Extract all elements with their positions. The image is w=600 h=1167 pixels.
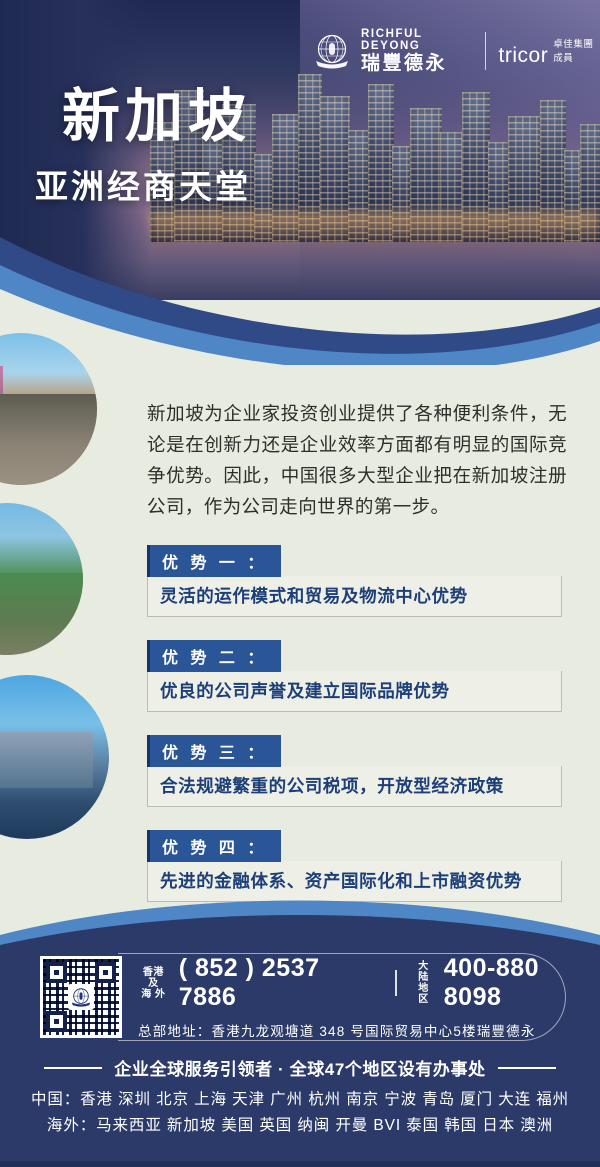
logo-divider <box>485 32 486 70</box>
crest-emblem-icon <box>312 31 352 71</box>
cn-phone-number: 400-880 8098 <box>444 954 600 1012</box>
singapore-shophouse-street-photo <box>0 333 97 485</box>
advantage-3-text: 合法规避繁重的公司税项，开放型经济政策 <box>147 766 562 807</box>
marina-bay-sands-waterfront-photo <box>0 675 109 839</box>
advantage-item-1: 优 势 一 ： 灵活的运作模式和贸易及物流中心优势 <box>147 545 562 617</box>
qr-code-icon[interactable] <box>40 956 122 1038</box>
phone-divider <box>395 970 397 996</box>
slogan-rule-left <box>44 1067 102 1069</box>
region-row-overseas: 海外：马来西亚 新加坡 美国 英国 纳闽 开曼 BVI 泰国 韩国 日本 澳洲 <box>0 1113 600 1139</box>
advantage-2-text: 优良的公司声誉及建立国际品牌优势 <box>147 671 562 712</box>
advantage-2-head: 优 势 二 ： <box>147 640 281 672</box>
brand-chinese-name: 瑞豐德永 <box>361 54 472 73</box>
brand-english-name: RICHFUL DEYONG <box>361 28 472 52</box>
photo-circle-2 <box>0 500 86 658</box>
footer-bottom-strip <box>0 1161 600 1167</box>
partner-wordmark: tricor <box>499 45 549 66</box>
cn-phone-label: 大陆 地区 <box>413 961 433 1005</box>
photo-circle-1 <box>0 330 100 488</box>
hk-phone-number: ( 852 ) 2537 7886 <box>179 954 380 1012</box>
advantage-item-4: 优 势 四 ： 先进的金融体系、资产国际化和上市融资优势 <box>147 830 562 902</box>
singapore-riverside-greenery-photo <box>0 503 83 655</box>
partner-subtitle: 卓佳集團成員 <box>553 36 600 66</box>
advantage-item-3: 优 势 三 ： 合法规避繁重的公司税项，开放型经济政策 <box>147 735 562 807</box>
footer-slogan: 企业全球服务引领者 · 全球47个地区设有办事处 <box>114 1055 485 1080</box>
poster-title: 新加坡 <box>62 88 251 146</box>
slogan-rule-right <box>498 1067 556 1069</box>
phone-row: 香港及 海 外 ( 852 ) 2537 7886 大陆 地区 400-880 … <box>138 954 600 1012</box>
region-row-china: 中国：香港 深圳 北京 上海 天津 广州 杭州 南京 宁波 青岛 厦门 大连 福… <box>0 1087 600 1113</box>
poster: RICHFUL DEYONG 瑞豐德永 tricor 卓佳集團成員 新加坡 亚洲… <box>0 0 600 1167</box>
photo-circle-3 <box>0 672 112 842</box>
advantage-1-head: 优 势 一 ： <box>147 545 281 577</box>
advantage-1-text: 灵活的运作模式和贸易及物流中心优势 <box>147 576 562 617</box>
advantage-3-head: 优 势 三 ： <box>147 735 281 767</box>
brand-logo: RICHFUL DEYONG 瑞豐德永 tricor 卓佳集團成員 <box>312 28 600 73</box>
advantage-4-head: 优 势 四 ： <box>147 830 281 862</box>
head-office-address: 总部地址：香港九龙观塘道 348 号国际贸易中心5楼瑞豐德永 <box>138 1020 600 1040</box>
poster-subtitle: 亚洲经商天堂 <box>35 170 251 203</box>
intro-paragraph: 新加坡为企业家投资创业提供了各种便利条件，无论是在创新力还是企业效率方面都有明显… <box>147 398 567 522</box>
qr-center-emblem-icon <box>68 984 94 1010</box>
footer-panel: 香港及 海 外 ( 852 ) 2537 7886 大陆 地区 400-880 … <box>0 937 600 1167</box>
contact-block: 香港及 海 外 ( 852 ) 2537 7886 大陆 地区 400-880 … <box>0 955 600 1039</box>
region-list: 中国：香港 深圳 北京 上海 天津 广州 杭州 南京 宁波 青岛 厦门 大连 福… <box>0 1087 600 1139</box>
slogan-row: 企业全球服务引领者 · 全球47个地区设有办事处 <box>0 1055 600 1080</box>
hk-phone-label: 香港及 海 外 <box>138 967 169 1000</box>
advantage-item-2: 优 势 二 ： 优良的公司声誉及建立国际品牌优势 <box>147 640 562 712</box>
contact-details: 香港及 海 外 ( 852 ) 2537 7886 大陆 地区 400-880 … <box>138 954 600 1040</box>
